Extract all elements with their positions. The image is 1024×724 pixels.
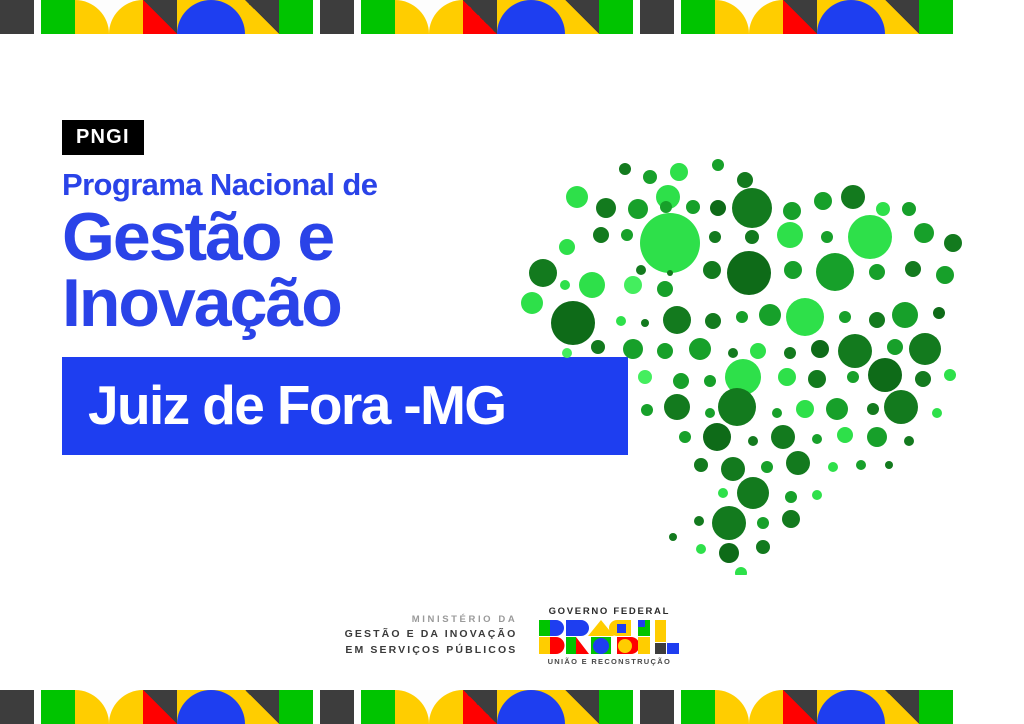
pattern-tile-red-diagonal: [463, 0, 497, 34]
pattern-gap: [674, 690, 681, 724]
government-federal-label: GOVERNO FEDERAL: [539, 606, 679, 617]
pattern-tile-yellow-quarter-a: [75, 0, 109, 34]
ministry-logo: MINISTÉRIO DA GESTÃO E DA INOVAÇÃO EM SE…: [345, 613, 518, 659]
government-tagline: UNIÃO E RECONSTRUÇÃO: [539, 657, 679, 666]
pattern-tile-yellow-quarter-a: [395, 690, 429, 724]
border-pattern-repeat: [640, 690, 960, 724]
pattern-tile-yellow-quarter-b: [429, 0, 463, 34]
pattern-tile-dome-right: [211, 0, 245, 34]
pattern-tile-yellow-quarter-a: [75, 690, 109, 724]
pattern-tile-yellow-quarter-b: [109, 690, 143, 724]
pattern-gap: [354, 690, 361, 724]
pattern-gap-2: [953, 690, 960, 724]
pattern-tile-red-diagonal: [143, 690, 177, 724]
pattern-tile-white-triangle: [245, 690, 279, 724]
location-label: Juiz de Fora -MG: [88, 378, 506, 433]
pattern-tile-green-square-2: [919, 690, 953, 724]
pattern-tile-yellow-quarter-b: [749, 690, 783, 724]
brasil-wordmark-icon: [539, 620, 679, 654]
pattern-gap: [674, 0, 681, 34]
pattern-tile-yellow-quarter-a: [715, 0, 749, 34]
border-pattern-repeat: [640, 0, 960, 34]
pattern-tile-white-triangle: [885, 0, 919, 34]
government-logo: GOVERNO FEDERAL: [539, 606, 679, 666]
border-pattern-repeat: [320, 0, 640, 34]
border-pattern-repeat: [320, 690, 640, 724]
pattern-tile-white-triangle: [245, 0, 279, 34]
brazil-dot-map-dots: [521, 159, 962, 575]
pattern-tile-green-square-2: [279, 0, 313, 34]
pattern-gap-2: [313, 0, 320, 34]
ministry-line-2: GESTÃO E DA INOVAÇÃO: [345, 627, 518, 643]
ministry-line-1: MINISTÉRIO DA: [345, 613, 518, 627]
pattern-tile-green-square: [41, 0, 75, 34]
pattern-tile-dark-square: [640, 0, 674, 34]
pattern-tile-dark-square: [320, 690, 354, 724]
pattern-tile-dark-square: [0, 0, 34, 34]
border-pattern-repeat: [0, 0, 320, 34]
pattern-tile-yellow-quarter-b: [429, 690, 463, 724]
pattern-tile-dome-left: [497, 0, 531, 34]
pattern-tile-white-triangle: [565, 690, 599, 724]
pattern-tile-yellow-quarter-b: [109, 0, 143, 34]
pattern-tile-green-square: [361, 0, 395, 34]
pattern-gap: [354, 0, 361, 34]
pattern-tile-dome-right: [851, 0, 885, 34]
program-badge: PNGI: [62, 120, 144, 155]
pattern-tile-yellow-quarter-a: [715, 690, 749, 724]
pattern-tile-green-square-2: [599, 690, 633, 724]
pattern-tile-green-square-2: [599, 0, 633, 34]
decorative-border-bottom: [0, 690, 1024, 724]
pattern-tile-dark-square: [320, 0, 354, 34]
pattern-tile-dome-left: [817, 690, 851, 724]
pattern-tile-green-square: [361, 690, 395, 724]
slide-canvas: PNGI Programa Nacional de Gestão e Inova…: [0, 0, 1024, 724]
pattern-gap: [34, 690, 41, 724]
pattern-gap: [34, 0, 41, 34]
pattern-tile-red-diagonal: [143, 0, 177, 34]
pattern-tile-dome-left: [817, 0, 851, 34]
pattern-tile-dome-left: [497, 690, 531, 724]
brazil-dot-map: [505, 125, 1005, 575]
pattern-gap-2: [313, 690, 320, 724]
pattern-tile-white-triangle: [565, 0, 599, 34]
pattern-tile-yellow-quarter-b: [749, 0, 783, 34]
pattern-tile-dome-left: [177, 690, 211, 724]
pattern-tile-green-square-2: [279, 690, 313, 724]
ministry-line-3: EM SERVIÇOS PÚBLICOS: [345, 643, 518, 659]
pattern-tile-green-square: [681, 0, 715, 34]
pattern-gap-2: [953, 0, 960, 34]
pattern-gap-2: [633, 690, 640, 724]
pattern-tile-red-diagonal: [783, 0, 817, 34]
pattern-tile-yellow-quarter-a: [395, 0, 429, 34]
decorative-border-top: [0, 0, 1024, 34]
pattern-tile-dome-right: [211, 690, 245, 724]
pattern-tile-dome-right: [531, 0, 565, 34]
pattern-tile-dark-square: [0, 690, 34, 724]
footer-logos: MINISTÉRIO DA GESTÃO E DA INOVAÇÃO EM SE…: [0, 606, 1024, 666]
border-pattern-repeat: [0, 690, 320, 724]
pattern-tile-green-square-2: [919, 0, 953, 34]
pattern-tile-red-diagonal: [463, 690, 497, 724]
pattern-tile-dome-left: [177, 0, 211, 34]
pattern-tile-dome-right: [531, 690, 565, 724]
pattern-tile-green-square: [681, 690, 715, 724]
pattern-tile-green-square: [41, 690, 75, 724]
pattern-tile-red-diagonal: [783, 690, 817, 724]
pattern-tile-white-triangle: [885, 690, 919, 724]
pattern-tile-dark-square: [640, 690, 674, 724]
pattern-tile-dome-right: [851, 690, 885, 724]
pattern-gap-2: [633, 0, 640, 34]
